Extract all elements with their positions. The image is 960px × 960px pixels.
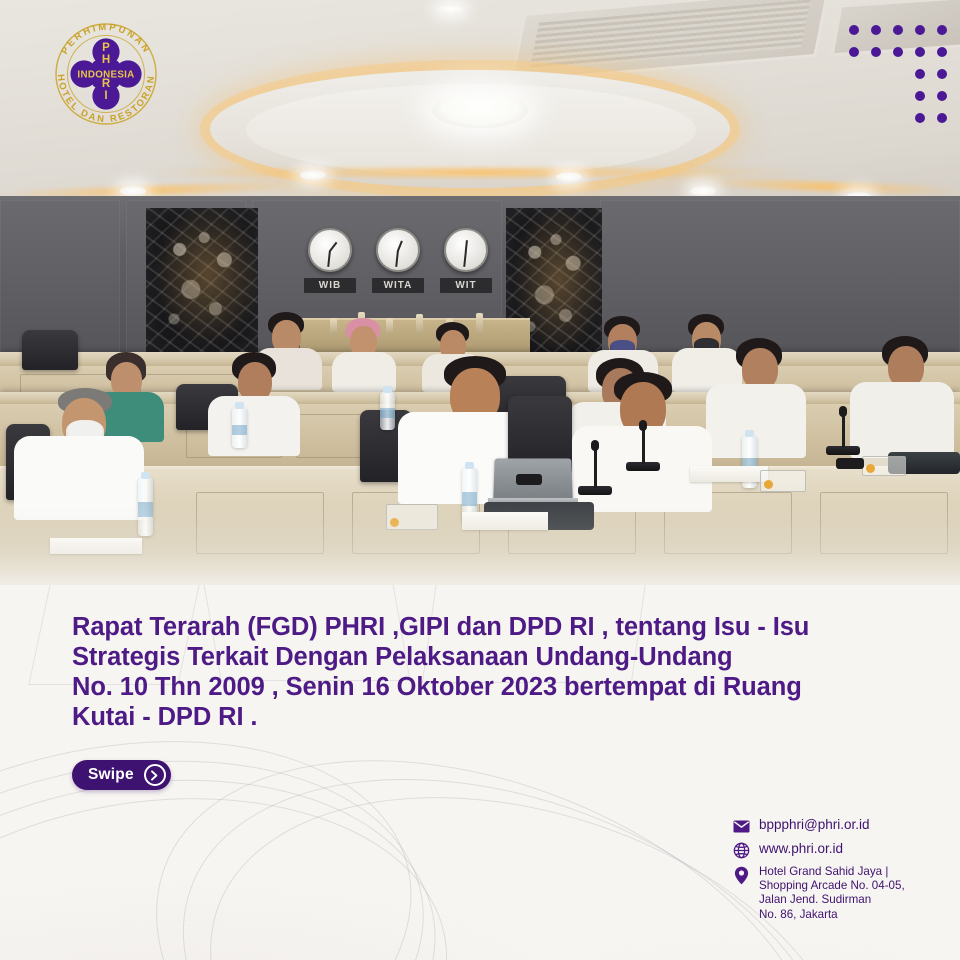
downlight bbox=[690, 186, 716, 196]
globe-icon bbox=[732, 841, 750, 859]
carved-wall-art-left bbox=[146, 208, 258, 356]
contact-website-text: www.phri.or.id bbox=[759, 841, 843, 857]
dot bbox=[849, 47, 859, 57]
contact-email-text: bppphri@phri.or.id bbox=[759, 817, 870, 833]
downlight bbox=[556, 172, 582, 182]
ceiling-light-fixture bbox=[432, 92, 528, 128]
dot bbox=[937, 113, 947, 123]
phri-logo: PERHIMPUNAN HOTEL DAN RESTORAN P H R I I… bbox=[48, 16, 164, 132]
logo-letter-h: H bbox=[102, 54, 110, 66]
contact-address-row: Hotel Grand Sahid Jaya | Shopping Arcade… bbox=[732, 865, 954, 922]
downlight bbox=[300, 170, 326, 180]
clock-label-wib: WIB bbox=[304, 278, 356, 293]
dot bbox=[871, 25, 881, 35]
dot bbox=[937, 25, 947, 35]
dot bbox=[893, 47, 903, 57]
papers bbox=[690, 466, 768, 482]
contact-website-row[interactable]: www.phri.or.id bbox=[732, 841, 954, 859]
clock-label-wit: WIT bbox=[440, 278, 492, 293]
dot bbox=[937, 69, 947, 79]
wall-clock-wita bbox=[376, 228, 420, 272]
contact-block: bppphri@phri.or.id www.phri.or.id bbox=[732, 817, 954, 928]
dot bbox=[915, 69, 925, 79]
clock-label-wita: WITA bbox=[372, 278, 424, 293]
credenza bbox=[300, 318, 530, 352]
dot bbox=[937, 91, 947, 101]
snack-box bbox=[862, 456, 906, 476]
wall-clock-wib bbox=[308, 228, 352, 272]
dot bbox=[893, 25, 903, 35]
swipe-button-label: Swipe bbox=[88, 766, 134, 784]
dot bbox=[915, 113, 925, 123]
contact-address-text: Hotel Grand Sahid Jaya | Shopping Arcade… bbox=[759, 865, 905, 922]
downlight bbox=[438, 4, 464, 14]
dot-grid-pattern bbox=[849, 25, 945, 115]
envelope-icon bbox=[732, 817, 750, 835]
dot bbox=[915, 91, 925, 101]
dot bbox=[937, 47, 947, 57]
water-bottle bbox=[380, 392, 395, 430]
location-pin-icon bbox=[732, 866, 750, 884]
logo-letter-p: P bbox=[102, 42, 110, 54]
dot bbox=[915, 25, 925, 35]
page-title: Rapat Terarah (FGD) PHRI ,GIPI dan DPD R… bbox=[72, 612, 902, 732]
logo-letter-i: I bbox=[104, 90, 107, 102]
mobile-phone bbox=[836, 458, 864, 469]
snack-box bbox=[760, 470, 806, 492]
dot bbox=[849, 25, 859, 35]
water-bottle bbox=[232, 408, 247, 448]
swipe-button[interactable]: Swipe bbox=[72, 760, 171, 790]
cove-light-a bbox=[150, 168, 810, 177]
wall-clock-wit bbox=[444, 228, 488, 272]
poster-canvas: WIB WITA WIT bbox=[0, 0, 960, 960]
downlight bbox=[120, 186, 146, 196]
contact-email-row[interactable]: bppphri@phri.or.id bbox=[732, 817, 954, 835]
logo-country-text: INDONESIA bbox=[77, 70, 134, 81]
chevron-right-icon bbox=[144, 764, 166, 786]
dot bbox=[915, 47, 925, 57]
mobile-phone bbox=[516, 474, 542, 485]
dot bbox=[871, 47, 881, 57]
